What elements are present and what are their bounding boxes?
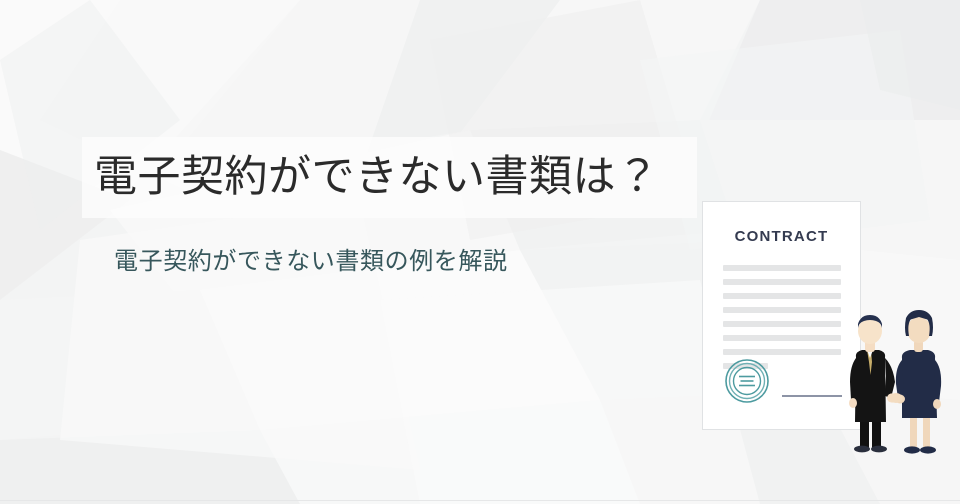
title-banner: 電子契約ができない書類は？ xyxy=(82,137,697,218)
document-text-line xyxy=(723,265,841,271)
document-text-line xyxy=(723,307,841,313)
page-title: 電子契約ができない書類は？ xyxy=(82,155,660,200)
contract-heading: CONTRACT xyxy=(703,228,860,245)
bottom-divider xyxy=(0,500,960,501)
page-subtitle: 電子契約ができない書類の例を解説 xyxy=(114,248,508,277)
document-text-line xyxy=(723,279,841,285)
document-text-line xyxy=(723,293,841,299)
document-text-line xyxy=(723,321,841,327)
signature-line xyxy=(782,395,842,397)
official-seal-icon xyxy=(724,358,770,404)
document-text-line xyxy=(723,335,841,341)
businessman-figure xyxy=(849,315,897,452)
businesswoman-figure xyxy=(895,310,941,454)
document-text-line xyxy=(723,349,841,355)
clasped-hands xyxy=(890,393,903,403)
slide-canvas: 電子契約ができない書類は？ 電子契約ができない書類の例を解説 CONTRACT xyxy=(0,0,960,504)
handshake-illustration xyxy=(838,302,960,460)
